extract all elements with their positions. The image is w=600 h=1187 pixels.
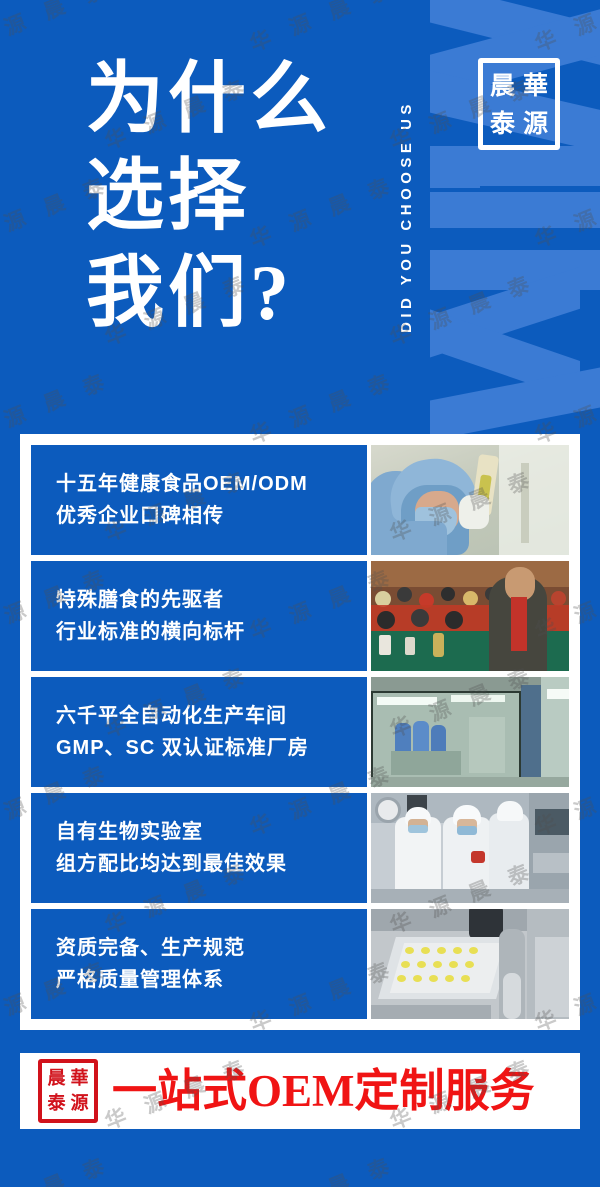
watermark-text: 华 源 晨 泰 xyxy=(245,1148,400,1187)
header: 为什么 选择 我们? DID YOU CHOOSE US 晨 華 泰 源 xyxy=(0,0,600,434)
banner-slogan: 一站式OEM定制服务 xyxy=(112,1069,535,1114)
feature-line: 优秀企业口碑相传 xyxy=(56,500,367,532)
feature-text-block: 特殊膳食的先驱者 行业标准的横向标杆 xyxy=(31,561,367,671)
feature-card: 特殊膳食的先驱者 行业标准的横向标杆 xyxy=(31,561,569,671)
seal-char-2: 華 xyxy=(68,1066,91,1091)
seal-char-1: 晨 xyxy=(45,1066,68,1091)
feature-photo-cleanroom-corridor-production-workshop xyxy=(371,677,569,787)
seal-char-4: 源 xyxy=(519,104,552,142)
feature-cards: 十五年健康食品OEM/ODM 优秀企业口碑相传 特殊膳食的先驱者 xyxy=(31,445,569,1019)
feature-list-frame: 十五年健康食品OEM/ODM 优秀企业口碑相传 特殊膳食的先驱者 xyxy=(20,434,580,1030)
feature-text-block: 自有生物实验室 组方配比均达到最佳效果 xyxy=(31,793,367,903)
seal-char-1: 晨 xyxy=(486,66,519,104)
company-seal-logo: 晨 華 泰 源 xyxy=(478,58,560,150)
feature-card: 资质完备、生产规范 严格质量管理体系 xyxy=(31,909,569,1019)
title-line-1: 为什么 xyxy=(86,50,332,147)
feature-photo-lab-technician-inspecting-iv-bag xyxy=(371,445,569,555)
watermark-text: 华 源 晨 泰 xyxy=(530,1148,600,1187)
company-seal-logo-red: 晨 華 泰 源 xyxy=(38,1059,98,1123)
feature-photo-workers-in-white-coats-at-filling-line xyxy=(371,793,569,903)
feature-photo-conference-audience-with-red-scarves xyxy=(371,561,569,671)
feature-line: 特殊膳食的先驱者 xyxy=(56,584,367,616)
feature-text-block: 资质完备、生产规范 严格质量管理体系 xyxy=(31,909,367,1019)
feature-line: 组方配比均达到最佳效果 xyxy=(56,848,367,880)
feature-text-block: 六千平全自动化生产车间 GMP、SC 双认证标准厂房 xyxy=(31,677,367,787)
seal-char-3: 泰 xyxy=(486,104,519,142)
seal-char-4: 源 xyxy=(68,1091,91,1116)
vertical-subtitle: DID YOU CHOOSE US xyxy=(398,22,415,412)
feature-photo-tablet-blister-packaging-machine xyxy=(371,909,569,1019)
feature-line: 自有生物实验室 xyxy=(56,816,367,848)
seal-char-2: 華 xyxy=(519,66,552,104)
feature-text-block: 十五年健康食品OEM/ODM 优秀企业口碑相传 xyxy=(31,445,367,555)
feature-line: 严格质量管理体系 xyxy=(56,964,367,996)
watermark-text: 华 源 晨 泰 xyxy=(0,1148,115,1187)
feature-line: GMP、SC 双认证标准厂房 xyxy=(56,732,367,764)
feature-line: 行业标准的横向标杆 xyxy=(56,616,367,648)
feature-line: 十五年健康食品OEM/ODM xyxy=(56,468,367,500)
title-line-2: 选择 xyxy=(86,147,332,244)
seal-char-3: 泰 xyxy=(45,1091,68,1116)
feature-card: 十五年健康食品OEM/ODM 优秀企业口碑相传 xyxy=(31,445,569,555)
feature-card: 六千平全自动化生产车间 GMP、SC 双认证标准厂房 xyxy=(31,677,569,787)
page-title: 为什么 选择 我们? xyxy=(86,50,332,341)
feature-card: 自有生物实验室 组方配比均达到最佳效果 xyxy=(31,793,569,903)
feature-line: 六千平全自动化生产车间 xyxy=(56,700,367,732)
title-line-3: 我们? xyxy=(86,244,332,341)
bottom-banner: 晨 華 泰 源 一站式OEM定制服务 xyxy=(20,1053,580,1129)
feature-line: 资质完备、生产规范 xyxy=(56,932,367,964)
